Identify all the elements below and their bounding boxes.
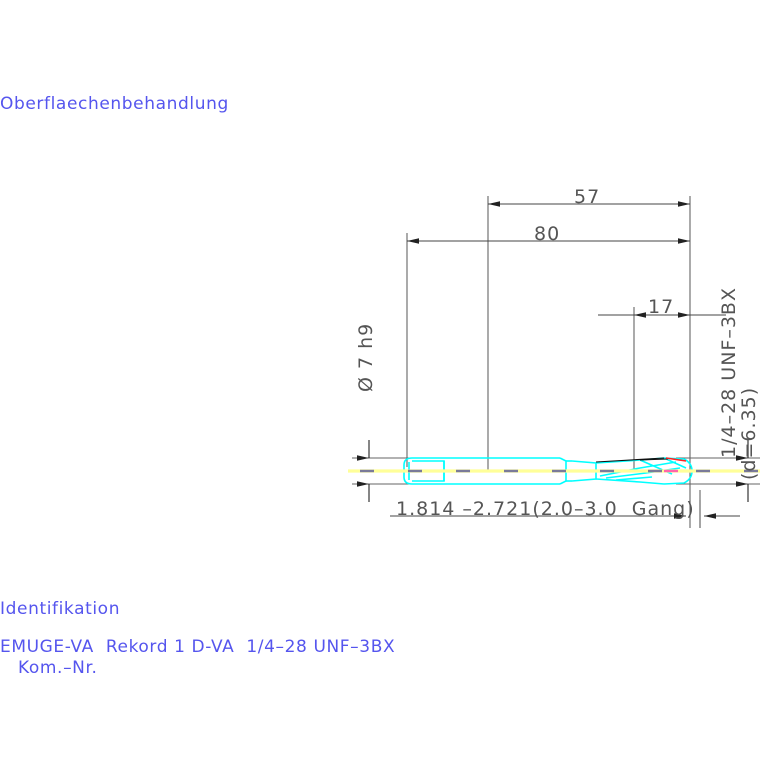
technical-drawing <box>0 0 767 767</box>
tool-geometry <box>348 458 760 484</box>
extension-lines <box>352 196 760 528</box>
drawing-canvas: Oberflaechenbehandlung Identifikation EM… <box>0 0 767 767</box>
dimension-label-57: 57 <box>574 186 600 208</box>
dimension-label-thread-core-diameter: (d=6.35) <box>738 387 760 480</box>
dimension-label-80: 80 <box>534 223 560 245</box>
dimension-label-pitch-range: 1.814 –2.721(2.0–3.0 Gang) <box>396 498 695 520</box>
dimension-label-17: 17 <box>648 296 674 318</box>
dimension-label-thread-spec: 1/4–28 UNF–3BX <box>718 287 740 458</box>
dimension-label-shank-diameter: Ø 7 h9 <box>355 323 377 392</box>
